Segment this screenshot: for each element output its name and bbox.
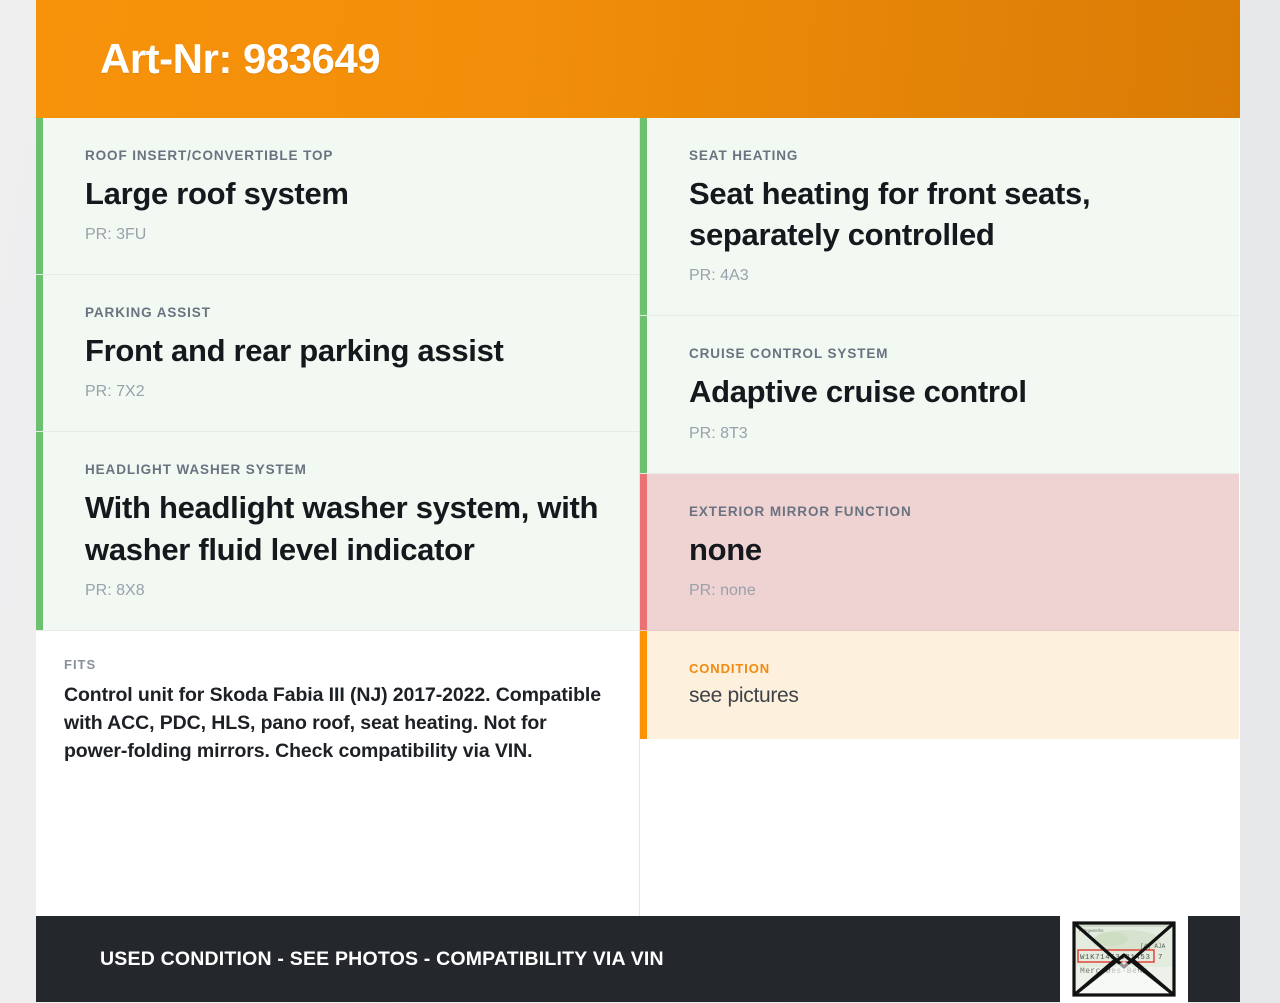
feature-pr-code: PR: 8X8 — [85, 582, 605, 600]
feature-label: HEADLIGHT WASHER SYSTEM — [85, 462, 605, 477]
feature-title: Large roof system — [85, 173, 605, 214]
condition-card[interactable]: CONDITION see pictures — [640, 631, 1239, 739]
feature-card[interactable]: SEAT HEATING Seat heating for front seat… — [640, 118, 1239, 316]
fits-block: FITS Control unit for Skoda Fabia III (N… — [36, 631, 639, 796]
envelope-icon[interactable]: Fahrgestellnr. [4] AJA W1K71463J31453 7 … — [1060, 915, 1188, 1003]
feature-pr-code: PR: 4A3 — [689, 267, 1205, 285]
left-column-spacer — [36, 796, 639, 917]
fits-description: Control unit for Skoda Fabia III (NJ) 20… — [64, 682, 603, 766]
header-bar: Art-Nr: 983649 — [36, 0, 1240, 118]
feature-pr-code: PR: 7X2 — [85, 383, 605, 401]
feature-label: SEAT HEATING — [689, 148, 1205, 163]
feature-label: ROOF INSERT/CONVERTIBLE TOP — [85, 148, 605, 163]
fits-label: FITS — [64, 657, 603, 672]
feature-title: With headlight washer system, with washe… — [85, 487, 605, 569]
feature-label: EXTERIOR MIRROR FUNCTION — [689, 504, 1205, 519]
condition-label: CONDITION — [689, 661, 1205, 676]
feature-title: none — [689, 529, 1205, 570]
feature-card[interactable]: PARKING ASSIST Front and rear parking as… — [36, 275, 639, 432]
document-vin-suffix: 7 — [1158, 954, 1162, 962]
condition-value: see pictures — [689, 682, 1205, 709]
feature-label: PARKING ASSIST — [85, 305, 605, 320]
listing-card: Art-Nr: 983649 ROOF INSERT/CONVERTIBLE T… — [36, 0, 1240, 1002]
feature-card[interactable]: ROOF INSERT/CONVERTIBLE TOP Large roof s… — [36, 118, 639, 275]
right-column-spacer — [640, 739, 1239, 916]
feature-card[interactable]: CRUISE CONTROL SYSTEM Adaptive cruise co… — [640, 316, 1239, 473]
feature-card-unavailable[interactable]: EXTERIOR MIRROR FUNCTION none PR: none — [640, 474, 1239, 631]
feature-columns: ROOF INSERT/CONVERTIBLE TOP Large roof s… — [36, 118, 1240, 916]
footer-bar: USED CONDITION - SEE PHOTOS - COMPATIBIL… — [36, 916, 1240, 1002]
feature-pr-code: PR: none — [689, 582, 1205, 600]
footer-notice: USED CONDITION - SEE PHOTOS - COMPATIBIL… — [36, 948, 664, 971]
feature-title: Front and rear parking assist — [85, 330, 605, 371]
feature-title: Adaptive cruise control — [689, 371, 1205, 412]
feature-label: CRUISE CONTROL SYSTEM — [689, 346, 1205, 361]
feature-card[interactable]: HEADLIGHT WASHER SYSTEM With headlight w… — [36, 432, 639, 630]
feature-title: Seat heating for front seats, separately… — [689, 173, 1205, 255]
feature-pr-code: PR: 3FU — [85, 226, 605, 244]
feature-pr-code: PR: 8T3 — [689, 425, 1205, 443]
right-column: SEAT HEATING Seat heating for front seat… — [640, 118, 1239, 916]
page-title: Art-Nr: 983649 — [36, 35, 380, 83]
left-column: ROOF INSERT/CONVERTIBLE TOP Large roof s… — [36, 118, 640, 916]
